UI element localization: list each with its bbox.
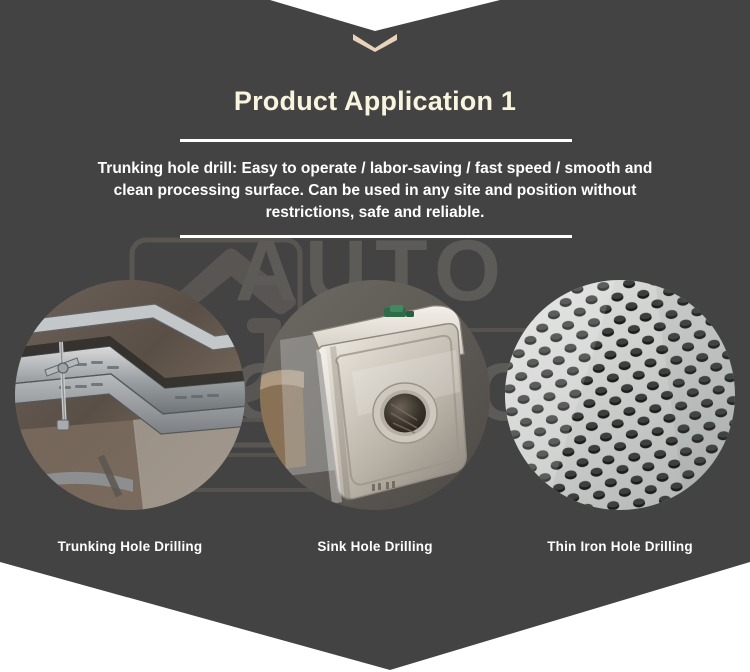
screenshot-root: AUTO HOEPSCM Product Application 1 Trunk…: [0, 0, 750, 672]
divider-bottom: [180, 235, 572, 238]
chevron-down-icon: [352, 32, 398, 52]
caption-thin-iron-hole-drilling: Thin Iron Hole Drilling: [490, 539, 750, 554]
sink-photo: [260, 280, 490, 510]
description-text: Trunking hole drill: Easy to operate / l…: [95, 158, 655, 224]
trunking-photo: [15, 280, 245, 510]
divider-top: [180, 139, 572, 142]
caption-trunking-hole-drilling: Trunking Hole Drilling: [0, 539, 260, 554]
thin-iron-photo: [505, 280, 735, 510]
page-title: Product Application 1: [0, 86, 750, 117]
caption-sink-hole-drilling: Sink Hole Drilling: [245, 539, 505, 554]
